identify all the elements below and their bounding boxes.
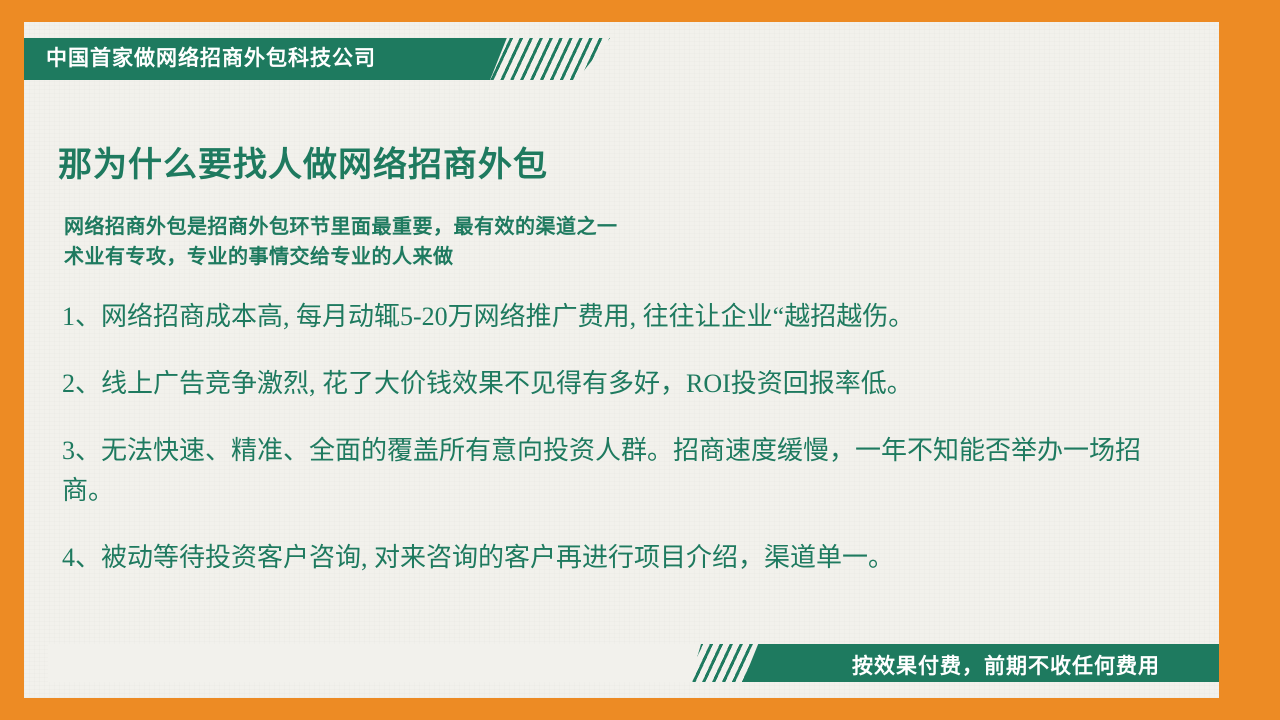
header-banner-text: 中国首家做网络招商外包科技公司 [46,45,376,73]
slide: 中国首家做网络招商外包科技公司 那为什么要找人做网络招商外包 网络招商外包是招商… [0,0,1280,720]
page-title: 那为什么要找人做网络招商外包 [58,137,548,186]
subtitle-line-2: 术业有专攻，专业的事情交给专业的人来做 [64,242,618,272]
subtitle-line-1: 网络招商外包是招商外包环节里面最重要，最有效的渠道之一 [64,212,618,242]
list-item: 3、无法快速、精准、全面的覆盖所有意向投资人群。招商速度缓慢，一年不知能否举办一… [62,431,1182,511]
footer-text: 按效果付费，前期不收任何费用 [852,650,1160,680]
subtitle-block: 网络招商外包是招商外包环节里面最重要，最有效的渠道之一 术业有专攻，专业的事情交… [64,212,618,272]
list-item: 4、被动等待投资客户咨询, 对来咨询的客户再进行项目介绍，渠道单一。 [62,538,1182,578]
list-item: 2、线上广告竞争激烈, 花了大价钱效果不见得有多好，ROI投资回报率低。 [62,364,1182,404]
list-item: 1、网络招商成本高, 每月动辄5-20万网络推广费用, 往往让企业“越招越伤。 [62,297,1182,337]
body-list: 1、网络招商成本高, 每月动辄5-20万网络推广费用, 往往让企业“越招越伤。 … [62,297,1182,605]
footer-bar-notch [48,644,754,682]
